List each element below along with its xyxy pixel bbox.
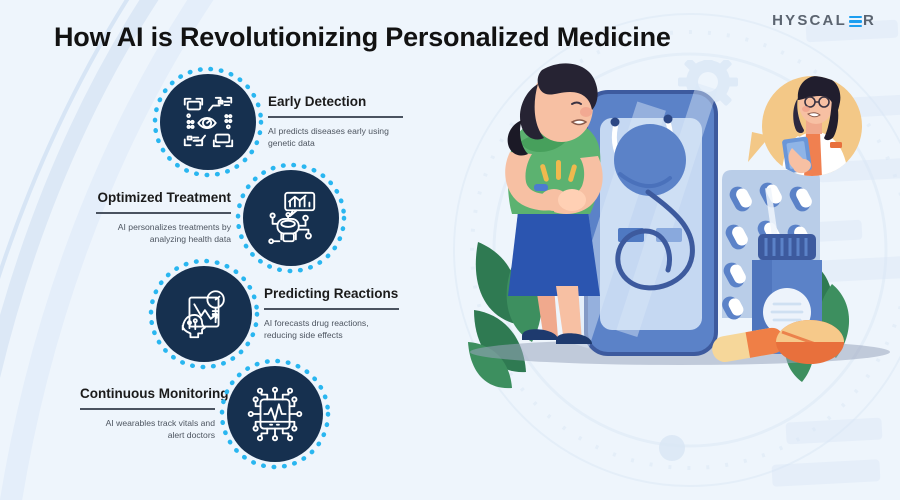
logo-text-part1: HYSCAL bbox=[772, 12, 847, 29]
feature-title: Optimized Treatment bbox=[96, 190, 231, 206]
feature-description: AI forecasts drug reactions, reducing si… bbox=[264, 317, 399, 342]
infographic-canvas: HYSCAL R How AI is Revolutionizing Perso… bbox=[0, 0, 900, 500]
feature-text: Predicting Reactions AI forecasts drug r… bbox=[264, 286, 399, 341]
feature-predicting-reactions[interactable]: Predicting Reactions AI forecasts drug r… bbox=[156, 266, 399, 362]
feature-early-detection[interactable]: Early Detection AI predicts diseases ear… bbox=[160, 74, 403, 170]
feature-optimized-treatment[interactable]: Optimized Treatment AI personalizes trea… bbox=[96, 170, 339, 266]
telemedicine-illustration bbox=[460, 60, 900, 500]
feature-text: Early Detection AI predicts diseases ear… bbox=[268, 94, 403, 149]
feature-title: Continuous Monitoring bbox=[80, 386, 215, 402]
feature-description: AI predicts diseases early using genetic… bbox=[268, 125, 403, 150]
robot-analytics-icon bbox=[243, 170, 339, 266]
feature-title: Early Detection bbox=[268, 94, 403, 110]
feature-icon-wrap bbox=[227, 366, 323, 462]
feature-continuous-monitoring[interactable]: Continuous Monitoring AI wearables track… bbox=[80, 366, 323, 462]
feature-icon-wrap bbox=[243, 170, 339, 266]
brand-logo: HYSCAL R bbox=[772, 12, 876, 29]
divider bbox=[264, 308, 399, 309]
doctor-speech-bubble bbox=[748, 76, 862, 178]
divider bbox=[80, 408, 215, 409]
feature-text: Continuous Monitoring AI wearables track… bbox=[80, 386, 215, 441]
feature-title: Predicting Reactions bbox=[264, 286, 399, 302]
ecg-chip-icon bbox=[227, 366, 323, 462]
feature-icon-wrap bbox=[160, 74, 256, 170]
divider bbox=[96, 212, 231, 213]
feature-description: AI personalizes treatments by analyzing … bbox=[96, 221, 231, 246]
divider bbox=[268, 116, 403, 117]
eye-scanner-icon bbox=[160, 74, 256, 170]
logo-e-icon bbox=[849, 16, 862, 28]
logo-text-part2: R bbox=[863, 12, 876, 29]
feature-text: Optimized Treatment AI personalizes trea… bbox=[96, 190, 231, 245]
feature-icon-wrap bbox=[156, 266, 252, 362]
page-title: How AI is Revolutionizing Personalized M… bbox=[54, 22, 671, 53]
feature-description: AI wearables track vitals and alert doct… bbox=[80, 417, 215, 442]
brain-chart-magnifier-icon bbox=[156, 266, 252, 362]
